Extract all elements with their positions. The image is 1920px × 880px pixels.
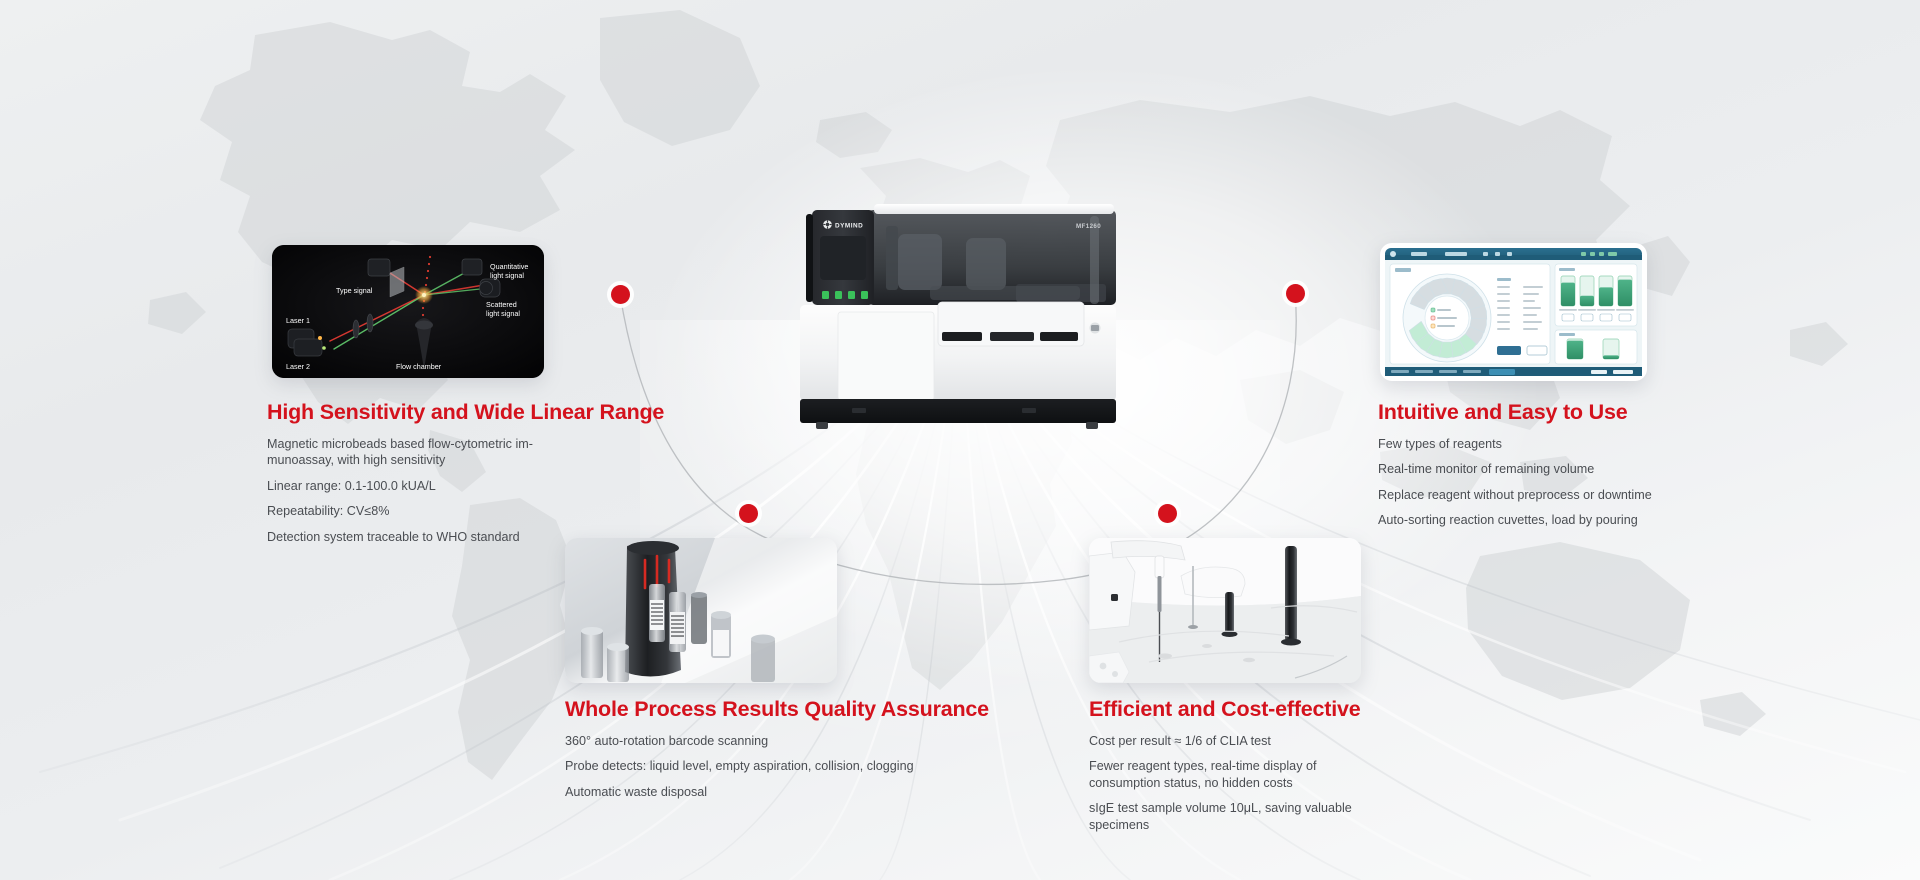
brand-logo-text: DYMIND bbox=[835, 223, 863, 230]
barcode-scanning-photo bbox=[565, 538, 837, 683]
feature-line: Linear range: 0.1-100.0 kUA/L bbox=[267, 478, 597, 494]
feature-line: 360° auto-rotation barcode scanning bbox=[565, 733, 985, 749]
feature-line: Cost per result ≈ 1/6 of CLIA test bbox=[1089, 733, 1389, 749]
infographic-canvas: DYMIND MF1260 bbox=[0, 0, 1920, 880]
connector-node-cost bbox=[1158, 504, 1177, 523]
label-flow-chamber: Flow chamber bbox=[396, 362, 442, 371]
analyzer-interior-photo bbox=[1089, 538, 1361, 683]
label-quantitative-line1: Quantitative bbox=[490, 262, 528, 271]
connector-node-intuitive bbox=[1286, 284, 1305, 303]
feature-title-cost: Efficient and Cost-effective bbox=[1089, 697, 1389, 722]
feature-block-cost: Efficient and Cost-effective Cost per re… bbox=[1089, 697, 1389, 833]
machine-model-text: MF1260 bbox=[1076, 223, 1101, 230]
feature-lines-quality: 360° auto-rotation barcode scanning Prob… bbox=[565, 733, 985, 800]
feature-line: Auto-sorting reaction cuvettes, load by … bbox=[1378, 512, 1698, 528]
feature-line: Replace reagent without preprocess or do… bbox=[1378, 487, 1698, 503]
software-ui-screenshot bbox=[1380, 243, 1647, 381]
feature-title-quality: Whole Process Results Quality Assurance bbox=[565, 697, 985, 722]
feature-line: sIgE test sample volume 10μL, saving val… bbox=[1089, 800, 1389, 833]
feature-block-sensitivity: High Sensitivity and Wide Linear Range M… bbox=[267, 400, 597, 545]
feature-block-quality: Whole Process Results Quality Assurance … bbox=[565, 697, 985, 800]
connector-node-quality bbox=[739, 504, 758, 523]
feature-block-intuitive: Intuitive and Easy to Use Few types of r… bbox=[1378, 400, 1698, 529]
feature-line: Repeatability: CV≤8% bbox=[267, 503, 597, 519]
feature-line: Few types of reagents bbox=[1378, 436, 1698, 452]
brand-logo: DYMIND bbox=[823, 220, 863, 229]
feature-title-sensitivity: High Sensitivity and Wide Linear Range bbox=[267, 400, 597, 425]
feature-lines-sensitivity: Magnetic microbeads based flow-cytometri… bbox=[267, 436, 597, 545]
label-type-signal: Type signal bbox=[336, 286, 373, 295]
label-scattered-line1: Scattered bbox=[486, 300, 517, 309]
label-quantitative-line2: light signal bbox=[490, 271, 524, 280]
flow-cytometry-diagram: Type signal Quantitative light signal Sc… bbox=[272, 245, 544, 378]
label-laser-1: Laser 1 bbox=[286, 316, 310, 325]
feature-line: Real-time monitor of remaining volume bbox=[1378, 461, 1698, 477]
feature-title-intuitive: Intuitive and Easy to Use bbox=[1378, 400, 1698, 425]
connector-node-sensitivity bbox=[611, 285, 630, 304]
feature-line: Magnetic microbeads based flow-cytometri… bbox=[267, 436, 597, 469]
feature-lines-intuitive: Few types of reagents Real-time monitor … bbox=[1378, 436, 1698, 529]
feature-line: Automatic waste disposal bbox=[565, 784, 985, 800]
feature-line: Fewer reagent types, real-time display o… bbox=[1089, 758, 1389, 791]
label-scattered-line2: light signal bbox=[486, 309, 520, 318]
feature-line: Probe detects: liquid level, empty aspir… bbox=[565, 758, 985, 774]
feature-lines-cost: Cost per result ≈ 1/6 of CLIA test Fewer… bbox=[1089, 733, 1389, 833]
feature-line: Detection system traceable to WHO standa… bbox=[267, 529, 597, 545]
label-laser-2: Laser 2 bbox=[286, 362, 310, 371]
analyzer-machine-photo: DYMIND MF1260 bbox=[790, 196, 1130, 436]
